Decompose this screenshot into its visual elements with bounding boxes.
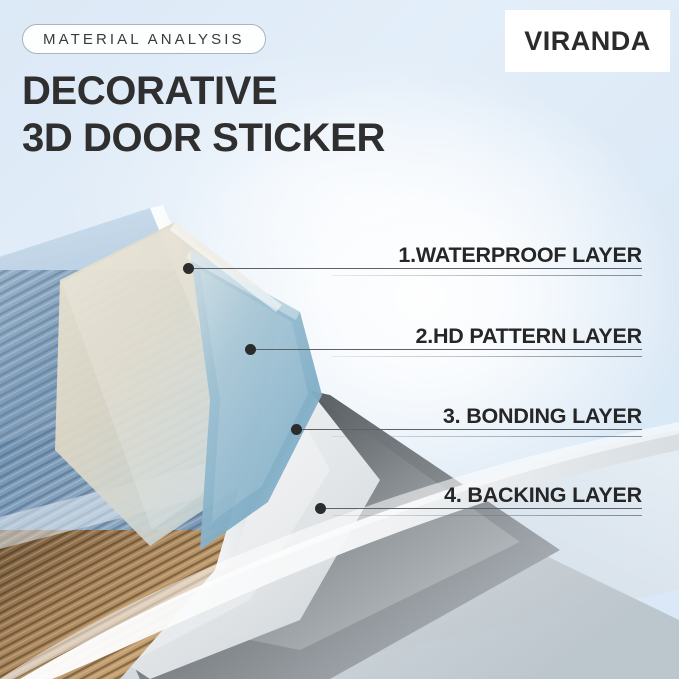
layer-leader-line-3 [302,429,642,430]
infographic-canvas: MATERIAL ANALYSIS DECORATIVE 3D DOOR STI… [0,0,679,679]
title-line-2: 3D DOOR STICKER [22,115,385,162]
layer-leader-line-1 [194,268,642,269]
layer-rule-1 [332,275,642,276]
layer-leader-line-4 [326,508,642,509]
layer-marker-dot-4 [315,503,326,514]
layer-marker-dot-2 [245,344,256,355]
page-title: DECORATIVE 3D DOOR STICKER [22,68,385,162]
badge-label: MATERIAL ANALYSIS [43,31,245,48]
layer-label-2: 2.HD PATTERN LAYER [415,324,642,349]
brand-logo-box: VIRANDA [505,10,670,72]
layer-leader-line-2 [256,349,642,350]
layer-marker-dot-3 [291,424,302,435]
layer-label-4: 4. BACKING LAYER [444,483,642,508]
layer-rule-2 [332,356,642,357]
layer-label-1: 1.WATERPROOF LAYER [398,243,642,268]
brand-name: VIRANDA [524,26,651,57]
material-analysis-badge: MATERIAL ANALYSIS [22,24,266,54]
layer-rule-3 [332,436,642,437]
layer-marker-dot-1 [183,263,194,274]
layer-label-3: 3. BONDING LAYER [443,404,642,429]
layer-rule-4 [332,515,642,516]
title-line-1: DECORATIVE [22,68,385,115]
